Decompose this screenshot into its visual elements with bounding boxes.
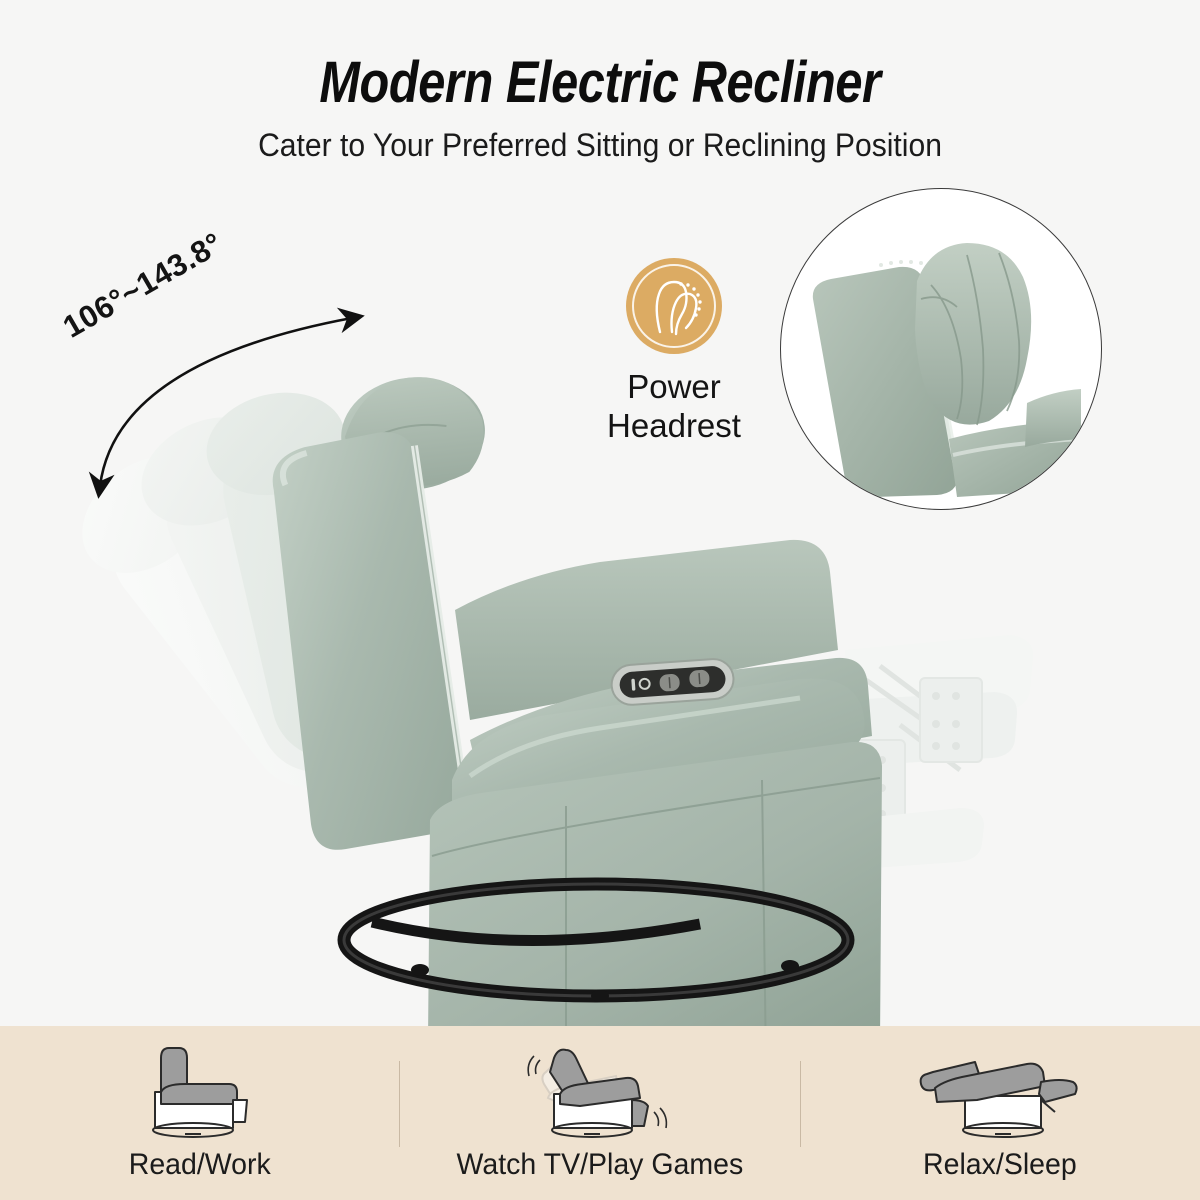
chair-upright-icon: [125, 1042, 275, 1146]
use-case-watch-tv[interactable]: Watch TV/Play Games: [400, 1026, 799, 1200]
badge-caption-line1: Power: [560, 368, 788, 407]
power-headrest-caption: Power Headrest: [560, 368, 788, 446]
headrest-detail-inset: [780, 188, 1102, 510]
use-case-label-read-work: Read/Work: [129, 1148, 271, 1182]
use-case-strip: Read/Work: [0, 1026, 1200, 1200]
use-case-relax-sleep[interactable]: Relax/Sleep: [801, 1026, 1200, 1200]
badge-caption-line2: Headrest: [560, 407, 788, 446]
use-case-label-relax-sleep: Relax/Sleep: [923, 1148, 1077, 1182]
power-control-panel[interactable]: [610, 658, 734, 706]
page-subtitle: Cater to Your Preferred Sitting or Recli…: [36, 112, 1164, 163]
power-headrest-icon: [626, 258, 722, 354]
power-headrest-feature: Power Headrest: [560, 258, 788, 446]
page-title: Modern Electric Recliner: [96, 0, 1104, 112]
recline-angle-annotation: 106°~143.8°: [60, 270, 400, 510]
power-headrest-badge: [626, 258, 722, 354]
use-case-label-watch-tv: Watch TV/Play Games: [457, 1148, 744, 1182]
product-stage: 106°~143.8°: [0, 180, 1200, 1026]
chair-reclined-partial-icon: [520, 1042, 680, 1146]
header: Modern Electric Recliner Cater to Your P…: [0, 0, 1200, 180]
use-case-read-work[interactable]: Read/Work: [0, 1026, 399, 1200]
headrest-closeup-illustration: [781, 189, 1101, 509]
product-infographic: Modern Electric Recliner Cater to Your P…: [0, 0, 1200, 1200]
chair-reclined-flat-icon: [915, 1042, 1085, 1146]
